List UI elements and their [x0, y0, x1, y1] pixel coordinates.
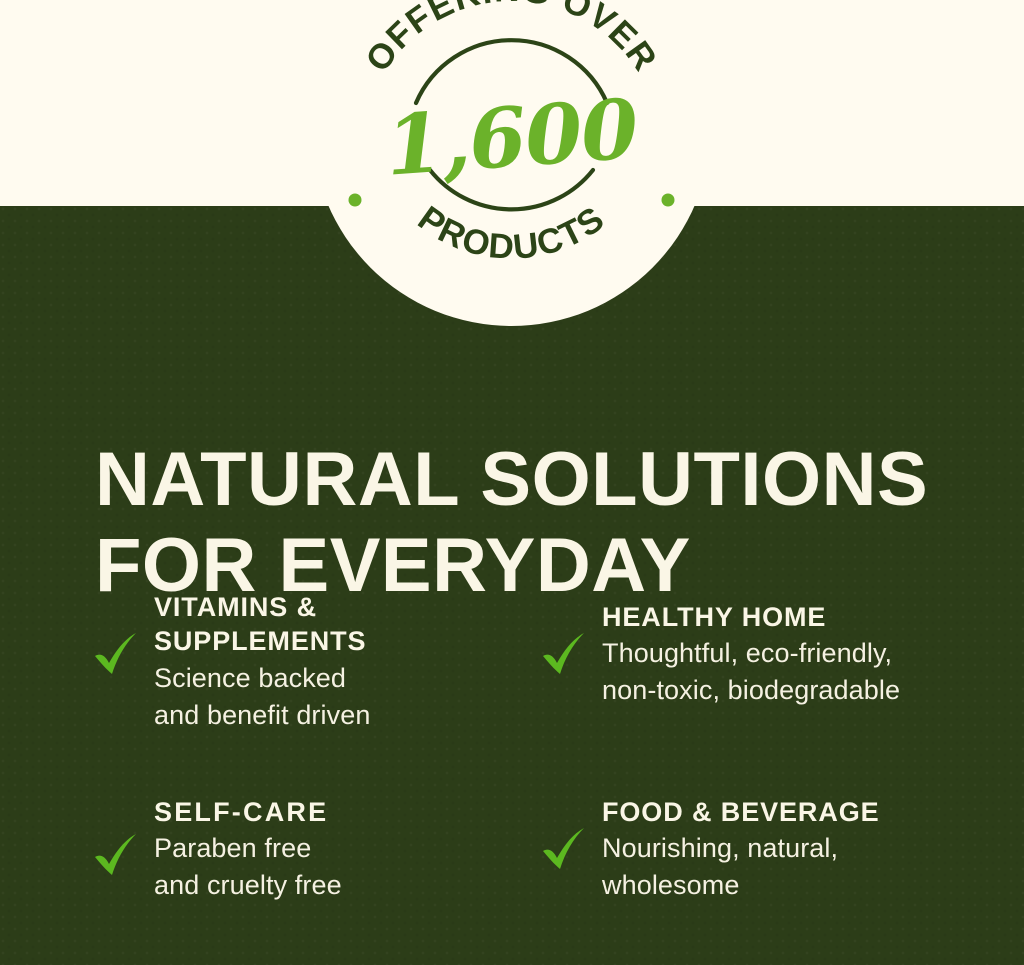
feature-title-line-1: FOOD & BEVERAGE [602, 797, 880, 827]
headline-line-1: NATURAL SOLUTIONS [95, 437, 975, 523]
feature-item-self-care: SELF-CARE Paraben free and cruelty free [92, 795, 522, 904]
feature-title-line-1: HEALTHY HOME [602, 602, 826, 632]
feature-desc-line-2: and cruelty free [154, 867, 522, 904]
feature-title: SELF-CARE [154, 795, 522, 829]
feature-title: VITAMINS & SUPPLEMENTS [154, 590, 522, 659]
feature-title: FOOD & BEVERAGE [602, 795, 990, 829]
feature-title-line-2: SUPPLEMENTS [154, 626, 366, 656]
feature-desc-line-1: Nourishing, natural, [602, 830, 990, 867]
check-icon [540, 632, 588, 676]
feature-desc-line-2: and benefit driven [154, 697, 522, 734]
feature-description: Thoughtful, eco-friendly, non-toxic, bio… [602, 635, 990, 709]
offering-products-badge: OFFERING OVER PRODUCTS 1,600 [312, 0, 711, 326]
feature-desc-line-2: wholesome [602, 867, 990, 904]
feature-title-line-1: VITAMINS & [154, 592, 317, 622]
badge-dot-right [662, 194, 675, 207]
check-icon [540, 827, 588, 871]
check-icon [92, 632, 140, 676]
badge-dot-left [349, 194, 362, 207]
feature-item-healthy-home: HEALTHY HOME Thoughtful, eco-friendly, n… [540, 600, 990, 709]
page-title: NATURAL SOLUTIONS FOR EVERYDAY [95, 437, 975, 609]
feature-title-line-1: SELF-CARE [154, 797, 328, 827]
feature-item-vitamins-supplements: VITAMINS & SUPPLEMENTS Science backed an… [92, 590, 522, 734]
feature-desc-line-2: non-toxic, biodegradable [602, 672, 990, 709]
check-icon [92, 833, 140, 877]
feature-desc-line-1: Science backed [154, 660, 522, 697]
feature-desc-line-1: Thoughtful, eco-friendly, [602, 635, 990, 672]
feature-item-food-beverage: FOOD & BEVERAGE Nourishing, natural, who… [540, 795, 990, 904]
feature-description: Paraben free and cruelty free [154, 830, 522, 904]
feature-title: HEALTHY HOME [602, 600, 990, 634]
promo-poster: OFFERING OVER PRODUCTS 1,600 NATURAL SOL… [0, 0, 1024, 965]
feature-description: Science backed and benefit driven [154, 660, 522, 734]
feature-description: Nourishing, natural, wholesome [602, 830, 990, 904]
feature-desc-line-1: Paraben free [154, 830, 522, 867]
